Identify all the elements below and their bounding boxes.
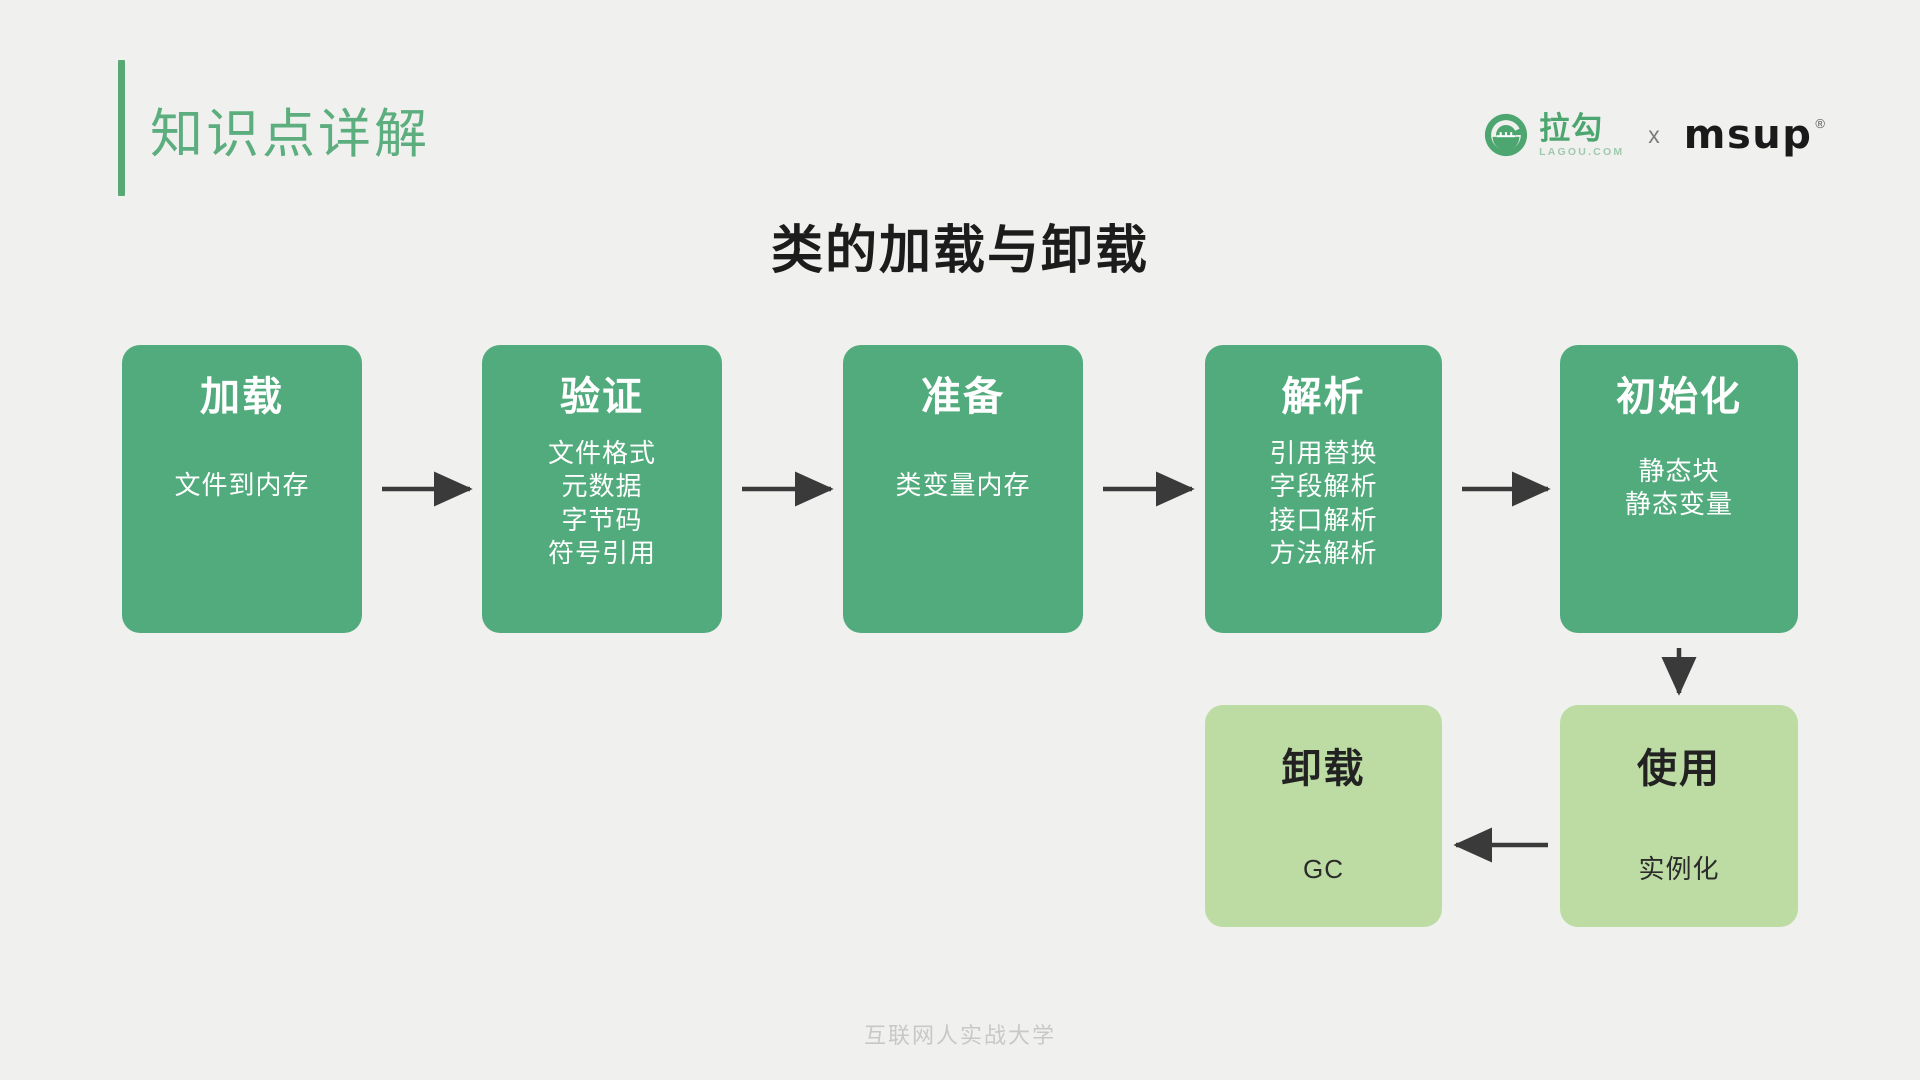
flow-node-resolve-line-4: 方法解析 [1269, 537, 1377, 570]
flow-node-resolve-line-2: 字段解析 [1269, 470, 1377, 503]
flow-node-load[interactable]: 加载 文件到内存 [122, 345, 362, 633]
flow-node-load-line-1: 文件到内存 [174, 469, 309, 502]
class-lifecycle-diagram: 加载 文件到内存 验证 文件格式 元数据 字节码 符号引用 准备 类变量内存 解… [0, 0, 1920, 1080]
flow-node-unload-title: 卸载 [1282, 749, 1366, 789]
flow-node-verify-title: 验证 [560, 377, 644, 417]
flow-node-unload-lines: GC [1303, 853, 1344, 886]
flow-node-verify[interactable]: 验证 文件格式 元数据 字节码 符号引用 [482, 345, 722, 633]
flow-node-resolve[interactable]: 解析 引用替换 字段解析 接口解析 方法解析 [1205, 345, 1442, 633]
flow-node-resolve-line-3: 接口解析 [1269, 504, 1377, 537]
flow-node-unload[interactable]: 卸载 GC [1205, 705, 1442, 927]
flow-node-prepare-line-1: 类变量内存 [895, 469, 1030, 502]
flow-node-verify-line-2: 元数据 [561, 470, 642, 503]
flow-node-prepare-title: 准备 [921, 377, 1005, 417]
flow-node-unload-line-1: GC [1303, 853, 1344, 886]
flow-node-verify-line-3: 字节码 [561, 504, 642, 537]
flow-node-init[interactable]: 初始化 静态块 静态变量 [1560, 345, 1798, 633]
flow-node-init-lines: 静态块 静态变量 [1625, 455, 1733, 522]
flow-node-verify-line-1: 文件格式 [548, 437, 656, 470]
flow-node-use-lines: 实例化 [1638, 853, 1719, 886]
flow-node-prepare[interactable]: 准备 类变量内存 [843, 345, 1083, 633]
flow-node-init-title: 初始化 [1616, 377, 1742, 417]
flow-node-resolve-title: 解析 [1282, 377, 1366, 417]
flow-node-load-lines: 文件到内存 [174, 469, 309, 502]
flow-node-init-line-1: 静态块 [1638, 455, 1719, 488]
flow-node-resolve-line-1: 引用替换 [1269, 437, 1377, 470]
flow-node-load-title: 加载 [200, 377, 284, 417]
flow-node-verify-lines: 文件格式 元数据 字节码 符号引用 [548, 437, 656, 570]
flow-node-use[interactable]: 使用 实例化 [1560, 705, 1798, 927]
flow-node-use-line-1: 实例化 [1638, 853, 1719, 886]
flow-node-use-title: 使用 [1637, 749, 1721, 789]
flow-node-resolve-lines: 引用替换 字段解析 接口解析 方法解析 [1269, 437, 1377, 570]
flow-node-prepare-lines: 类变量内存 [895, 469, 1030, 502]
flow-node-verify-line-4: 符号引用 [548, 537, 656, 570]
flow-node-init-line-2: 静态变量 [1625, 488, 1733, 521]
slide-footer-text: 互联网人实战大学 [0, 1018, 1920, 1050]
